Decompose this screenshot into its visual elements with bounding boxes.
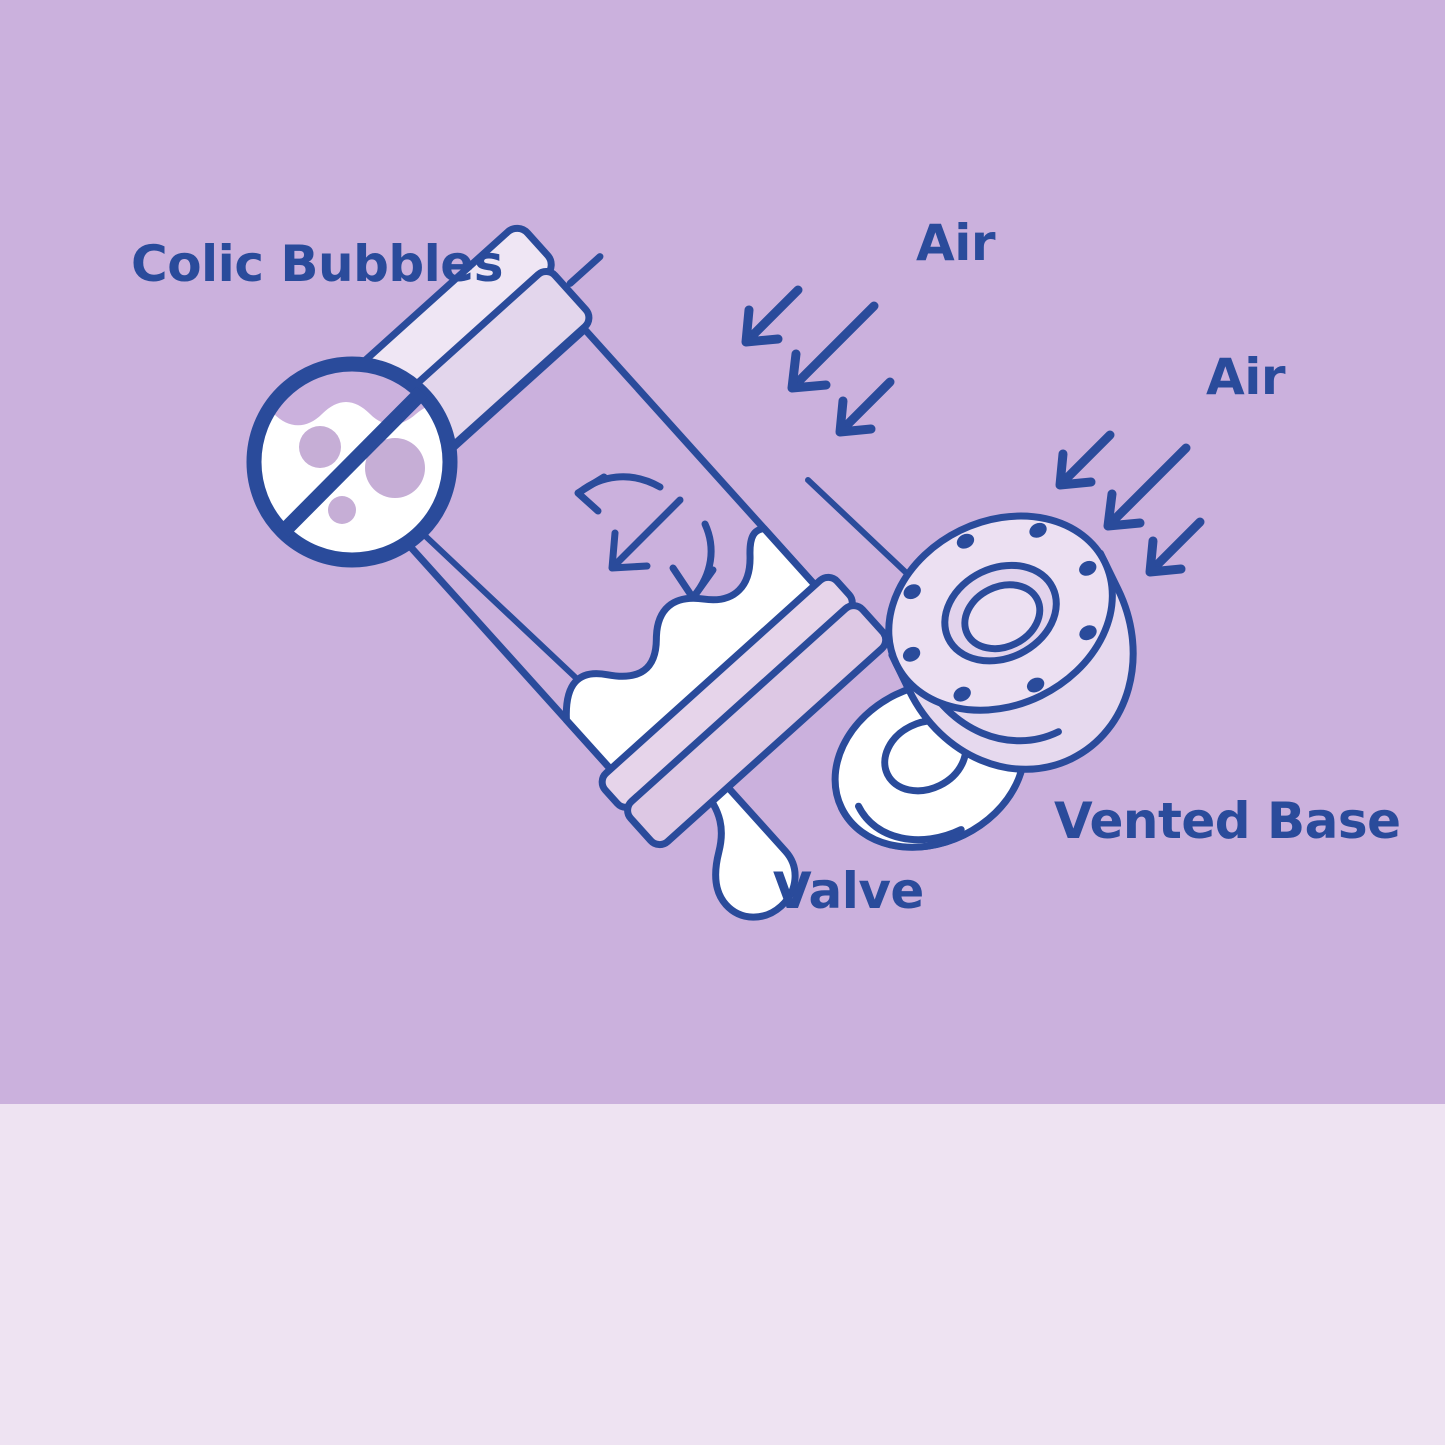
internal-airflow-arrow-icon <box>673 524 713 598</box>
leader-line-colic <box>420 531 575 677</box>
air-inflow-arrow-icon <box>1150 522 1200 572</box>
label-air-top: Air <box>916 218 995 268</box>
product-feature-card: Colic Bubbles Air Air Valve Vented Base … <box>0 0 1445 1445</box>
internal-airflow-arrow-icon <box>578 477 660 511</box>
caption-panel: Reduces Colic and Gas Patented Anti-Coli… <box>0 1104 1445 1445</box>
label-air-right: Air <box>1206 352 1285 402</box>
air-inflow-arrow-icon <box>792 306 874 388</box>
no-colic-bubbles-icon <box>248 364 460 560</box>
anti-colic-diagram <box>0 0 1445 1104</box>
label-colic-bubbles: Colic Bubbles <box>131 239 503 289</box>
air-inflow-arrow-icon <box>1108 448 1186 526</box>
hero-illustration-panel: Colic Bubbles Air Air Valve Vented Base <box>0 0 1445 1104</box>
air-arrows-top <box>746 290 890 432</box>
label-valve: Valve <box>773 866 924 916</box>
air-inflow-arrow-icon <box>840 382 890 432</box>
label-vented-base: Vented Base <box>1054 796 1401 846</box>
air-inflow-arrow-icon <box>746 290 798 342</box>
internal-airflow-arrows <box>578 477 713 598</box>
internal-airflow-arrow-icon <box>612 500 680 568</box>
bubble <box>299 426 341 468</box>
bubble <box>328 496 356 524</box>
air-inflow-arrow-icon <box>1060 435 1110 485</box>
